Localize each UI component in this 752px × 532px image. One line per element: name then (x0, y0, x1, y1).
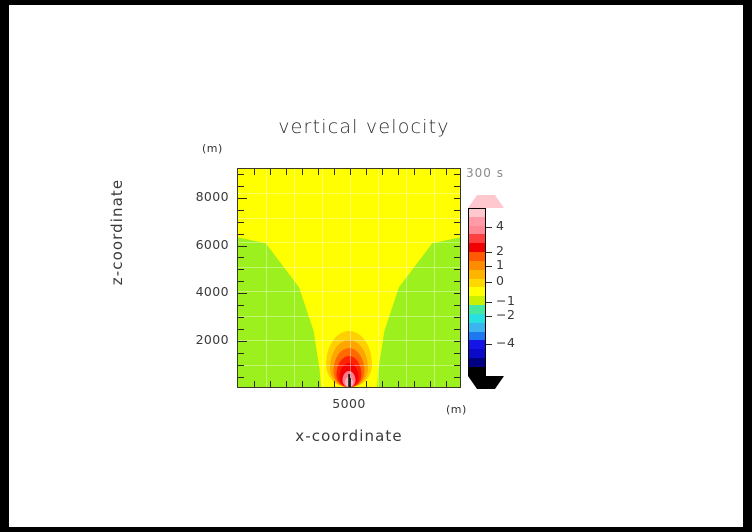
tick-mark (238, 222, 244, 223)
tick-mark (430, 381, 431, 387)
tick-mark (270, 381, 271, 387)
gridline-vertical (378, 169, 379, 387)
x-axis-title: x-coordinate (259, 427, 439, 445)
tick-mark (238, 329, 244, 330)
tick-mark (238, 305, 244, 306)
colorbar-band (468, 279, 486, 288)
y-tick-label: 6000 (169, 237, 229, 252)
tick-mark (238, 186, 244, 187)
tick-mark (254, 169, 255, 175)
colorbar-tick (486, 344, 492, 345)
colorbar-tick-label: −2 (496, 307, 515, 322)
colorbar-tick-label: −4 (496, 335, 515, 350)
colorbar-band (468, 226, 486, 235)
colorbar-band (468, 270, 486, 279)
tick-mark (334, 381, 335, 387)
tick-mark (318, 169, 319, 175)
colorbar-band (468, 252, 486, 261)
contour-plot-area (237, 168, 461, 388)
tick-mark (366, 381, 367, 387)
tick-mark (286, 381, 287, 387)
tick-mark (238, 293, 247, 294)
tick-mark (350, 378, 351, 387)
colorbar-tick (486, 252, 492, 253)
gridline-vertical (350, 169, 351, 387)
figure-canvas: vertical velocity (m) (m) 300 s z-coordi… (9, 5, 743, 527)
colorbar-tick (486, 302, 492, 303)
tick-mark (238, 341, 247, 342)
tick-mark (454, 246, 460, 247)
tick-mark (238, 257, 244, 258)
gridline-horizontal (238, 340, 460, 341)
tick-mark (302, 381, 303, 387)
y-axis-unit-label: (m) (202, 142, 223, 155)
x-tick-label: 5000 (314, 396, 384, 411)
timestamp-label: 300 s (466, 166, 504, 180)
gridline-vertical (406, 169, 407, 387)
colorbar-cap-bottom (468, 376, 504, 389)
tick-mark (454, 305, 460, 306)
frame-band-left (0, 0, 9, 532)
colorbar-tick (486, 282, 492, 283)
tick-mark (454, 210, 460, 211)
gridline-horizontal (238, 291, 460, 292)
colorbar (468, 208, 486, 376)
gridline-horizontal (238, 365, 460, 366)
colorbar-band (468, 261, 486, 270)
tick-mark (446, 381, 447, 387)
colorbar-band (468, 217, 486, 226)
colorbar-band (468, 367, 486, 376)
tick-mark (398, 169, 399, 175)
tick-mark (238, 269, 244, 270)
gridline-horizontal (238, 218, 460, 219)
tick-mark (238, 210, 244, 211)
gridline-horizontal (238, 242, 460, 243)
gridline-horizontal (238, 267, 460, 268)
tick-mark (318, 381, 319, 387)
colorbar-band (468, 323, 486, 332)
tick-mark (238, 353, 244, 354)
tick-mark (414, 381, 415, 387)
tick-mark (334, 169, 335, 175)
tick-mark (454, 353, 460, 354)
tick-mark (382, 169, 383, 175)
frame-band-bottom (0, 527, 752, 532)
colorbar-tick (486, 266, 492, 267)
tick-mark (398, 381, 399, 387)
tick-mark (454, 377, 460, 378)
tick-mark (254, 381, 255, 387)
frame-band-right (743, 0, 752, 532)
tick-mark (454, 329, 460, 330)
colorbar-band (468, 332, 486, 341)
tick-mark (238, 317, 244, 318)
colorbar-band (468, 287, 486, 296)
colorbar-tick-label: 4 (496, 218, 504, 233)
tick-mark (414, 169, 415, 175)
x-axis-unit-label: (m) (446, 403, 467, 416)
tick-mark (366, 169, 367, 175)
tick-mark (454, 198, 460, 199)
tick-mark (454, 222, 460, 223)
tick-mark (350, 169, 351, 175)
tick-mark (382, 381, 383, 387)
colorbar-band (468, 349, 486, 358)
gridline-vertical (322, 169, 323, 387)
tick-mark (238, 246, 247, 247)
gridline-vertical (434, 169, 435, 387)
colorbar-band (468, 296, 486, 305)
gridline-horizontal (238, 193, 460, 194)
tick-mark (454, 186, 460, 187)
tick-mark (238, 377, 244, 378)
colorbar-band (468, 358, 486, 367)
tick-mark (430, 169, 431, 175)
colorbar-tick-label: 1 (496, 257, 504, 272)
colorbar-cap-top (468, 195, 504, 208)
tick-mark (454, 365, 460, 366)
tick-mark (238, 198, 247, 199)
tick-mark (454, 269, 460, 270)
colorbar-band (468, 305, 486, 314)
tick-mark (302, 169, 303, 175)
colorbar-tick (486, 227, 492, 228)
gridline-vertical (266, 169, 267, 387)
y-tick-label: 2000 (169, 332, 229, 347)
colorbar-band (468, 314, 486, 323)
colorbar-band (468, 208, 486, 217)
tick-mark (454, 174, 460, 175)
tick-mark (238, 365, 244, 366)
colorbar-tick-label: 2 (496, 243, 504, 258)
colorbar-band (468, 234, 486, 243)
tick-mark (454, 317, 460, 318)
tick-mark (238, 234, 244, 235)
tick-mark (454, 341, 460, 342)
colorbar-tick-label: −1 (496, 293, 515, 308)
colorbar-tick-label: 0 (496, 273, 504, 288)
page-title: vertical velocity (264, 116, 464, 138)
tick-mark (454, 293, 460, 294)
y-axis-title: z-coordinate (108, 112, 126, 352)
tick-mark (454, 234, 460, 235)
y-tick-label: 8000 (169, 189, 229, 204)
tick-mark (238, 281, 244, 282)
colorbar-band (468, 340, 486, 349)
tick-mark (454, 281, 460, 282)
gridline-horizontal (238, 316, 460, 317)
tick-mark (238, 174, 244, 175)
tick-mark (286, 169, 287, 175)
tick-mark (454, 257, 460, 258)
tick-mark (446, 169, 447, 175)
colorbar-band (468, 243, 486, 252)
gridline-vertical (294, 169, 295, 387)
tick-mark (270, 169, 271, 175)
y-tick-label: 4000 (169, 284, 229, 299)
colorbar-tick (486, 316, 492, 317)
